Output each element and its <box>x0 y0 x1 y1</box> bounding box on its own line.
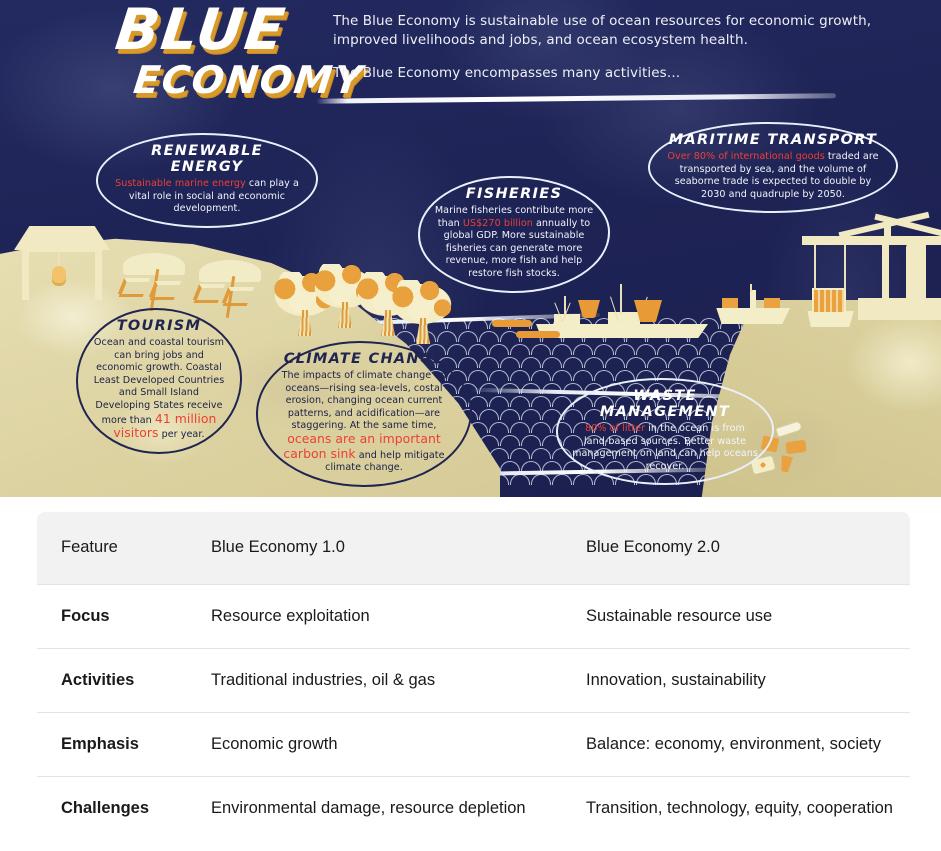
wave-icon <box>510 448 530 459</box>
callout-title: Climate Change <box>272 351 456 367</box>
shipping-container-icon <box>812 288 846 314</box>
comparison-table: Feature Blue Economy 1.0 Blue Economy 2.… <box>37 512 910 840</box>
wave-icon <box>510 396 530 407</box>
intro-paragraph-1: The Blue Economy is sustainable use of o… <box>333 12 933 50</box>
wave-icon <box>626 357 646 368</box>
buoy-icon <box>492 320 532 327</box>
wave-icon <box>500 357 520 368</box>
wave-icon <box>668 357 688 368</box>
callout-title: Maritime Transport <box>664 132 882 148</box>
comparison-table-card: Feature Blue Economy 1.0 Blue Economy 2.… <box>37 512 910 840</box>
wave-icon <box>521 435 541 446</box>
wave-icon <box>573 474 593 485</box>
callout-highlight: Sustainable marine energy <box>115 178 246 189</box>
beach-hut-post-icon <box>95 250 102 300</box>
table-row: Focus Resource exploitation Sustainable … <box>37 585 910 649</box>
blue-economy-infographic: BLUE ECONOMY The Blue Economy is sustain… <box>0 0 941 497</box>
callout-renewable-energy[interactable]: Renewable Energy Sustainable marine ener… <box>96 133 318 228</box>
hanging-lamp-icon <box>52 266 66 286</box>
wave-icon <box>479 331 499 342</box>
wave-icon <box>636 344 656 355</box>
wave-icon <box>489 370 509 381</box>
crane-cable-icon <box>814 242 816 290</box>
port-crane-icon <box>802 236 941 245</box>
wave-icon <box>521 357 541 368</box>
cell-feature: Challenges <box>37 777 187 841</box>
callout-highlight: 80% of litter <box>585 423 645 434</box>
wave-icon <box>552 344 572 355</box>
wave-icon <box>552 370 572 381</box>
wave-icon <box>521 409 541 420</box>
wave-icon <box>657 344 677 355</box>
wave-icon <box>479 357 499 368</box>
cell-feature: Focus <box>37 585 187 649</box>
callout-climate-change[interactable]: Climate Change The impacts of climate ch… <box>256 341 472 487</box>
wave-icon <box>531 474 551 485</box>
wave-icon <box>699 344 719 355</box>
wave-icon <box>584 357 604 368</box>
wave-icon <box>531 448 551 459</box>
wave-icon <box>605 357 625 368</box>
callout-title: Renewable Energy <box>112 143 302 175</box>
cell-feature: Activities <box>37 649 187 713</box>
column-header-blue-economy-1: Blue Economy 1.0 <box>187 512 562 585</box>
table-row: Challenges Environmental damage, resourc… <box>37 777 910 841</box>
callout-highlight: US$270 billion <box>463 218 533 229</box>
cell-v2: Transition, technology, equity, cooperat… <box>562 777 910 841</box>
infographic-title: BLUE ECONOMY <box>108 2 348 107</box>
wave-icon <box>458 331 478 342</box>
callout-waste-management[interactable]: Waste Management 80% of litter in the oc… <box>556 378 774 485</box>
title-line-economy: ECONOMY <box>132 61 351 99</box>
cell-v2: Innovation, sustainability <box>562 649 910 713</box>
callout-body: The impacts of climate change on oceans—… <box>272 370 456 475</box>
callout-title: Fisheries <box>434 186 594 202</box>
wave-icon <box>689 357 709 368</box>
table-head: Feature Blue Economy 1.0 Blue Economy 2.… <box>37 512 910 585</box>
callout-body: Ocean and coastal tourism can bring jobs… <box>92 337 226 442</box>
wave-icon <box>437 331 457 342</box>
table-body: Focus Resource exploitation Sustainable … <box>37 585 910 841</box>
wave-icon <box>594 370 614 381</box>
callout-tourism[interactable]: Tourism Ocean and coastal tourism can br… <box>76 308 242 454</box>
wave-icon <box>479 409 499 420</box>
wave-icon <box>542 357 562 368</box>
cell-v2: Sustainable resource use <box>562 585 910 649</box>
port-crane-base-icon <box>858 298 941 320</box>
table-row: Activities Traditional industries, oil &… <box>37 649 910 713</box>
wave-icon <box>458 357 478 368</box>
callout-maritime-transport[interactable]: Maritime Transport Over 80% of internati… <box>648 122 898 213</box>
callout-title: Waste Management <box>572 388 758 420</box>
intro-paragraph-2: The Blue Economy encompasses many activi… <box>333 64 933 83</box>
port-crane-leg-icon <box>882 240 889 302</box>
wave-icon <box>500 409 520 420</box>
callout-fisheries[interactable]: Fisheries Marine fisheries contribute mo… <box>418 176 610 293</box>
wave-icon <box>573 344 593 355</box>
callout-body: Marine fisheries contribute more than US… <box>434 205 594 281</box>
callout-rest: per year. <box>158 429 204 440</box>
wave-icon <box>594 344 614 355</box>
table-row: Emphasis Economic growth Balance: econom… <box>37 713 910 777</box>
callout-title: Tourism <box>92 318 226 334</box>
beach-hut-post-icon <box>22 250 29 300</box>
wave-icon <box>699 370 719 381</box>
lamp-rope-icon <box>58 251 60 267</box>
cell-v1: Resource exploitation <box>187 585 562 649</box>
wave-icon <box>500 435 520 446</box>
wave-icon <box>510 422 530 433</box>
column-header-feature: Feature <box>37 512 187 585</box>
wave-icon <box>510 474 530 485</box>
cell-v1: Economic growth <box>187 713 562 777</box>
cell-v2: Balance: economy, environment, society <box>562 713 910 777</box>
wave-icon <box>615 344 635 355</box>
wave-icon <box>678 344 698 355</box>
crane-cable-icon <box>844 242 846 290</box>
wave-icon <box>563 357 583 368</box>
wave-icon <box>510 344 530 355</box>
intro-text-block: The Blue Economy is sustainable use of o… <box>333 12 933 83</box>
cell-v1: Environmental damage, resource depletion <box>187 777 562 841</box>
wave-icon <box>489 396 509 407</box>
callout-highlight: Over 80% of international goods <box>667 151 824 162</box>
wave-icon <box>647 357 667 368</box>
wave-icon <box>552 474 572 485</box>
wave-icon <box>531 370 551 381</box>
callout-body: 80% of litter in the ocean is from land-… <box>572 423 758 473</box>
beach-hut-beam-icon <box>22 247 102 252</box>
wave-icon <box>468 370 488 381</box>
cell-v1: Traditional industries, oil & gas <box>187 649 562 713</box>
callout-body: Sustainable marine energy can play a vit… <box>112 178 302 216</box>
table-header-row: Feature Blue Economy 1.0 Blue Economy 2.… <box>37 512 910 585</box>
wave-icon <box>489 344 509 355</box>
wave-icon <box>510 370 530 381</box>
wave-icon <box>573 370 593 381</box>
page-root: BLUE ECONOMY The Blue Economy is sustain… <box>0 0 941 851</box>
buoy-icon <box>516 331 560 338</box>
wave-icon <box>531 422 551 433</box>
cell-feature: Emphasis <box>37 713 187 777</box>
title-line-blue: BLUE <box>113 2 352 59</box>
wave-icon <box>531 396 551 407</box>
column-header-blue-economy-2: Blue Economy 2.0 <box>562 512 910 585</box>
wave-icon <box>489 422 509 433</box>
wave-icon <box>468 344 488 355</box>
callout-body: Over 80% of international goods traded a… <box>664 151 882 201</box>
wave-icon <box>710 331 730 342</box>
port-crane-lattice-icon <box>906 244 926 300</box>
callout-lead: The impacts of climate change on oceans—… <box>282 370 447 431</box>
wave-icon <box>531 344 551 355</box>
